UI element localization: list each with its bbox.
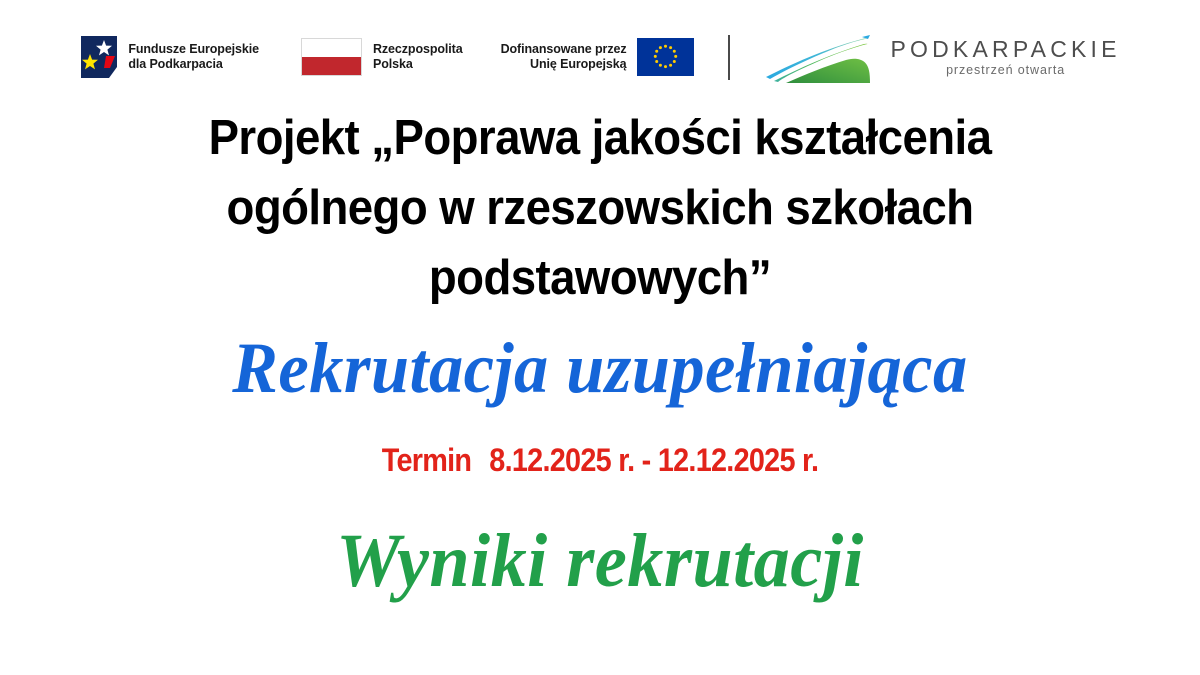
project-title-line-2: ogólnego w rzeszowskich szkołach — [42, 173, 1158, 243]
project-title-line-1: Projekt „Poprawa jakości kształcenia — [42, 103, 1158, 173]
podkarpackie-wordmark: PODKARPACKIE — [890, 37, 1120, 62]
poster-canvas: Fundusze Europejskie dla Podkarpacia Rze… — [0, 0, 1200, 675]
flag-stripe-red — [302, 57, 361, 75]
project-title: Projekt „Poprawa jakości kształcenia ogó… — [42, 103, 1158, 313]
recruitment-date-line: Termin8.12.2025 r. - 12.12.2025 r. — [60, 440, 1140, 480]
rp-line-1: Rzeczpospolita — [373, 42, 463, 56]
podkarpackie-swoosh-icon — [764, 31, 880, 83]
eu-line-2: Unię Europejską — [530, 57, 626, 71]
flag-stripe-white — [302, 39, 361, 57]
logo-unia-europejska: Dofinansowane przez Unię Europejską — [501, 29, 695, 85]
results-heading: Wyniki rekrutacji — [30, 516, 1170, 606]
polish-flag-icon — [301, 38, 362, 76]
date-label: Termin — [382, 442, 472, 478]
eu-line-1: Dofinansowane przez — [501, 42, 627, 56]
fe-line-2: dla Podkarpacia — [128, 57, 222, 71]
logo-fundusze-europejskie: Fundusze Europejskie dla Podkarpacia — [79, 29, 259, 85]
logo-rzeczpospolita-polska-text: Rzeczpospolita Polska — [373, 42, 463, 73]
logo-fundusze-europejskie-text: Fundusze Europejskie dla Podkarpacia — [128, 42, 259, 73]
vertical-divider-icon — [728, 35, 730, 80]
project-title-line-3: podstawowych” — [42, 243, 1158, 313]
fundusze-europejskie-stars-icon — [79, 34, 119, 80]
subtitle-rekrutacja-uzupelniajaca: Rekrutacja uzupełniająca — [30, 327, 1170, 409]
podkarpackie-tagline: przestrzeń otwarta — [890, 63, 1120, 78]
logo-podkarpackie: PODKARPACKIE przestrzeń otwarta — [764, 29, 1120, 85]
logo-rzeczpospolita-polska: Rzeczpospolita Polska — [301, 29, 463, 85]
fe-line-1: Fundusze Europejskie — [128, 42, 259, 56]
rp-line-2: Polska — [373, 57, 413, 71]
eu-flag-icon — [637, 38, 694, 76]
logo-unia-europejska-text: Dofinansowane przez Unię Europejską — [501, 42, 627, 73]
logo-podkarpackie-text: PODKARPACKIE przestrzeń otwarta — [890, 37, 1120, 78]
eu-funding-logo-bar: Fundusze Europejskie dla Podkarpacia Rze… — [0, 26, 1200, 88]
date-range: 8.12.2025 r. - 12.12.2025 r. — [489, 442, 818, 478]
